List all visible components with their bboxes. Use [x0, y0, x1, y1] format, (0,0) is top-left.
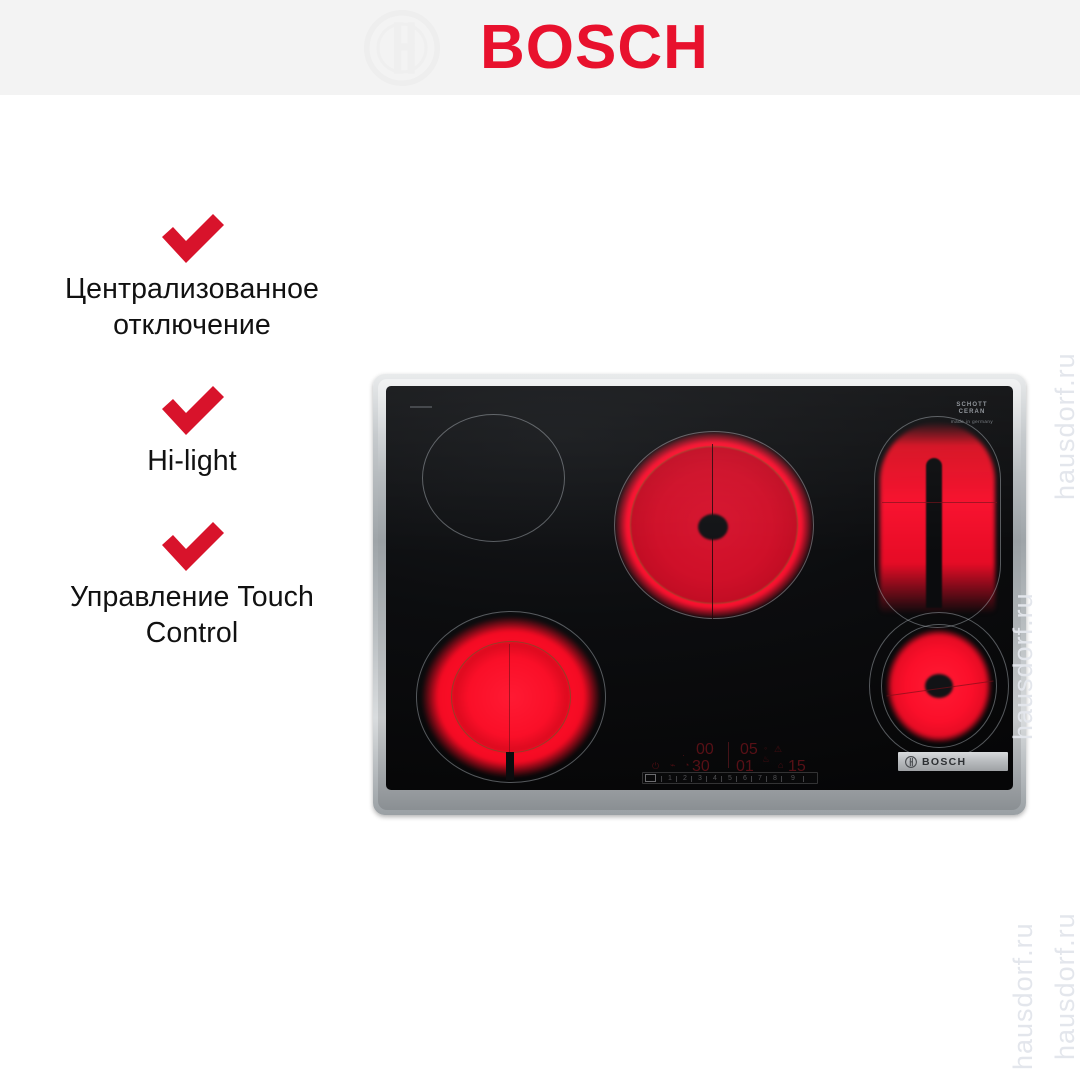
schott-ceran-line1: SCHOTT — [942, 402, 1002, 409]
power-level-slider[interactable]: 1 2 3 4 5 6 7 8 9 — [642, 772, 818, 784]
timer-dot-icon: · — [682, 750, 685, 760]
feature-label: Централизованное отключение — [12, 271, 372, 343]
feature-label: Управление Touch Control — [12, 579, 372, 651]
cooktop-badge-text: BOSCH — [922, 756, 966, 768]
header-inner: BOSCH — [0, 0, 1080, 95]
display-timer-1[interactable]: 00 — [696, 741, 714, 759]
header-band: BOSCH — [0, 0, 1080, 95]
cooking-zone-center-hub — [698, 514, 728, 540]
red-checkmark-icon — [12, 513, 372, 579]
cooking-zone-rear-left[interactable] — [422, 414, 565, 542]
slider-mark: 9 — [791, 774, 795, 783]
slider-knob[interactable] — [645, 774, 656, 782]
feature-item-centralized-shutoff: Централизованное отключение — [12, 205, 372, 343]
slider-mark: 7 — [758, 774, 762, 783]
slider-mark: 8 — [773, 774, 777, 783]
warning-icon: ⚠ — [774, 744, 782, 754]
slider-mark: 4 — [713, 774, 717, 783]
feature-item-touch-control: Управление Touch Control — [12, 513, 372, 651]
panel-divider — [728, 742, 729, 768]
cooktop-product-image: SCHOTT CERAN made in germany 0 — [373, 374, 1026, 815]
keep-warm-icon[interactable]: ♨ — [762, 754, 770, 764]
bosch-symbol-watermark-icon — [362, 8, 442, 88]
cooking-zone-front-left-inner-ring — [451, 641, 571, 753]
cooktop-ceramic-glass: SCHOTT CERAN made in germany 0 — [386, 386, 1013, 790]
feature-label: Hi-light — [12, 443, 372, 479]
slider-mark: 6 — [743, 774, 747, 783]
touch-control-panel[interactable]: 00 05 30 01 15 ⏻ ⌁ ◔ · ◦ ⚠ ♨ ⌂ 1 2 3 — [640, 741, 822, 786]
schott-ceran-line2: CERAN — [942, 409, 1002, 416]
slider-mark: 2 — [683, 774, 687, 783]
watermark-text: hausdorf.ru — [1008, 922, 1039, 1070]
red-checkmark-icon — [12, 377, 372, 443]
glass-corner-etch — [410, 406, 432, 408]
bosch-symbol-icon — [905, 756, 917, 768]
feature-list: Централизованное отключение Hi-light Упр… — [12, 205, 372, 685]
slider-mark: 5 — [728, 774, 732, 783]
watermark-text: hausdorf.ru — [1050, 352, 1080, 500]
clock-icon[interactable]: ◔ — [684, 760, 689, 770]
cooktop-bosch-badge: BOSCH — [898, 752, 1008, 771]
zone-front-left-notch — [506, 752, 514, 780]
cooking-zone-rear-right-roaster[interactable] — [874, 416, 1001, 628]
zone-rear-right-hairline-h — [882, 502, 997, 503]
display-timer-2[interactable]: 05 — [740, 741, 758, 759]
pot-icon: ⌂ — [778, 760, 783, 770]
power-icon[interactable]: ⏻ — [652, 761, 659, 771]
heat-indicator-icon: ◦ — [764, 743, 767, 753]
slider-mark: 3 — [698, 774, 702, 783]
watermark-text: hausdorf.ru — [1050, 912, 1080, 1060]
watermark-text: hausdorf.ru — [1008, 592, 1039, 740]
slider-mark: 1 — [668, 774, 672, 783]
child-lock-icon[interactable]: ⌁ — [670, 760, 675, 770]
zone-front-left-hairline-v — [509, 644, 510, 752]
bosch-wordmark: BOSCH — [480, 14, 709, 82]
feature-item-hi-light: Hi-light — [12, 377, 372, 479]
red-checkmark-icon — [12, 205, 372, 271]
